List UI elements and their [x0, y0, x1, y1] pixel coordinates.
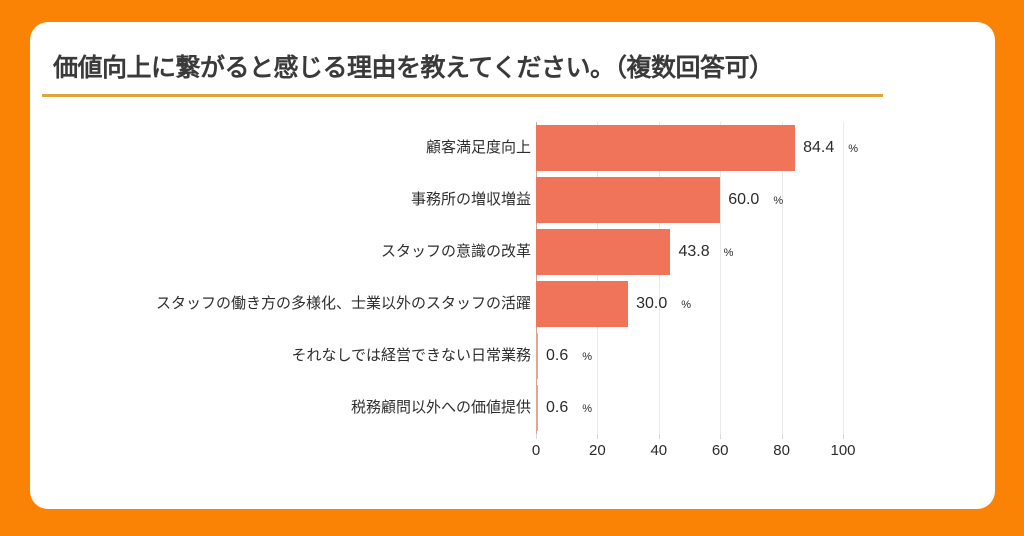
bar-row: それなしでは経営できない日常業務0.6% [30, 330, 995, 382]
bar-value-unit: % [582, 351, 592, 363]
bar-value-label: 0.6 [546, 347, 568, 364]
x-tick-label: 100 [830, 442, 855, 459]
title-underline-rule [42, 94, 883, 97]
bar-track [536, 177, 843, 223]
x-tick-label: 20 [589, 442, 606, 459]
bar-row: 税務顧問以外への価値提供0.6% [30, 382, 995, 434]
bar[interactable] [536, 385, 538, 431]
category-label: スタッフの意識の改革 [381, 226, 531, 278]
bar-row: 事務所の増収増益60.0% [30, 174, 995, 226]
bar-value-unit: % [848, 143, 858, 155]
x-tick-mark [659, 434, 660, 439]
bar[interactable] [536, 177, 720, 223]
bar-value-label: 30.0 [636, 295, 667, 312]
x-tick-label: 0 [532, 442, 540, 459]
bar[interactable] [536, 229, 670, 275]
x-tick-mark [536, 434, 537, 439]
x-tick-mark [720, 434, 721, 439]
bar[interactable] [536, 125, 795, 171]
bar-value-group: 0.6% [546, 385, 592, 431]
bar[interactable] [536, 281, 628, 327]
x-tick-label: 80 [773, 442, 790, 459]
bar-row: スタッフの働き方の多様化、士業以外のスタッフの活躍30.0% [30, 278, 995, 330]
bar-row: 顧客満足度向上84.4% [30, 122, 995, 174]
bar-value-unit: % [582, 403, 592, 415]
bar-value-group: 60.0% [728, 177, 783, 223]
bar-chart: 顧客満足度向上84.4%事務所の増収増益60.0%スタッフの意識の改革43.8%… [30, 122, 995, 492]
bar-value-label: 84.4 [803, 139, 834, 156]
x-axis: 020406080100 [536, 434, 843, 474]
bar-value-group: 43.8% [678, 229, 733, 275]
bar-value-unit: % [724, 247, 734, 259]
bar-value-label: 43.8 [678, 243, 709, 260]
bar-row: スタッフの意識の改革43.8% [30, 226, 995, 278]
bar-value-group: 0.6% [546, 333, 592, 379]
bar[interactable] [536, 333, 538, 379]
chart-card: 価値向上に繋がると感じる理由を教えてください。（複数回答可） 顧客満足度向上84… [30, 22, 995, 509]
x-tick-label: 60 [712, 442, 729, 459]
bar-track [536, 125, 843, 171]
category-label: スタッフの働き方の多様化、士業以外のスタッフの活躍 [156, 278, 531, 330]
page-title: 価値向上に繋がると感じる理由を教えてください。（複数回答可） [53, 48, 953, 84]
bar-value-label: 60.0 [728, 191, 759, 208]
category-label: 顧客満足度向上 [426, 122, 531, 174]
x-tick-label: 40 [650, 442, 667, 459]
category-label: それなしでは経営できない日常業務 [291, 330, 531, 382]
bar-value-unit: % [773, 195, 783, 207]
bar-value-label: 0.6 [546, 399, 568, 416]
category-label: 税務顧問以外への価値提供 [351, 382, 531, 434]
category-label: 事務所の増収増益 [411, 174, 531, 226]
bar-value-group: 84.4% [803, 125, 858, 171]
bar-value-group: 30.0% [636, 281, 691, 327]
bar-value-unit: % [681, 299, 691, 311]
x-tick-mark [782, 434, 783, 439]
x-tick-mark [843, 434, 844, 439]
x-tick-mark [597, 434, 598, 439]
